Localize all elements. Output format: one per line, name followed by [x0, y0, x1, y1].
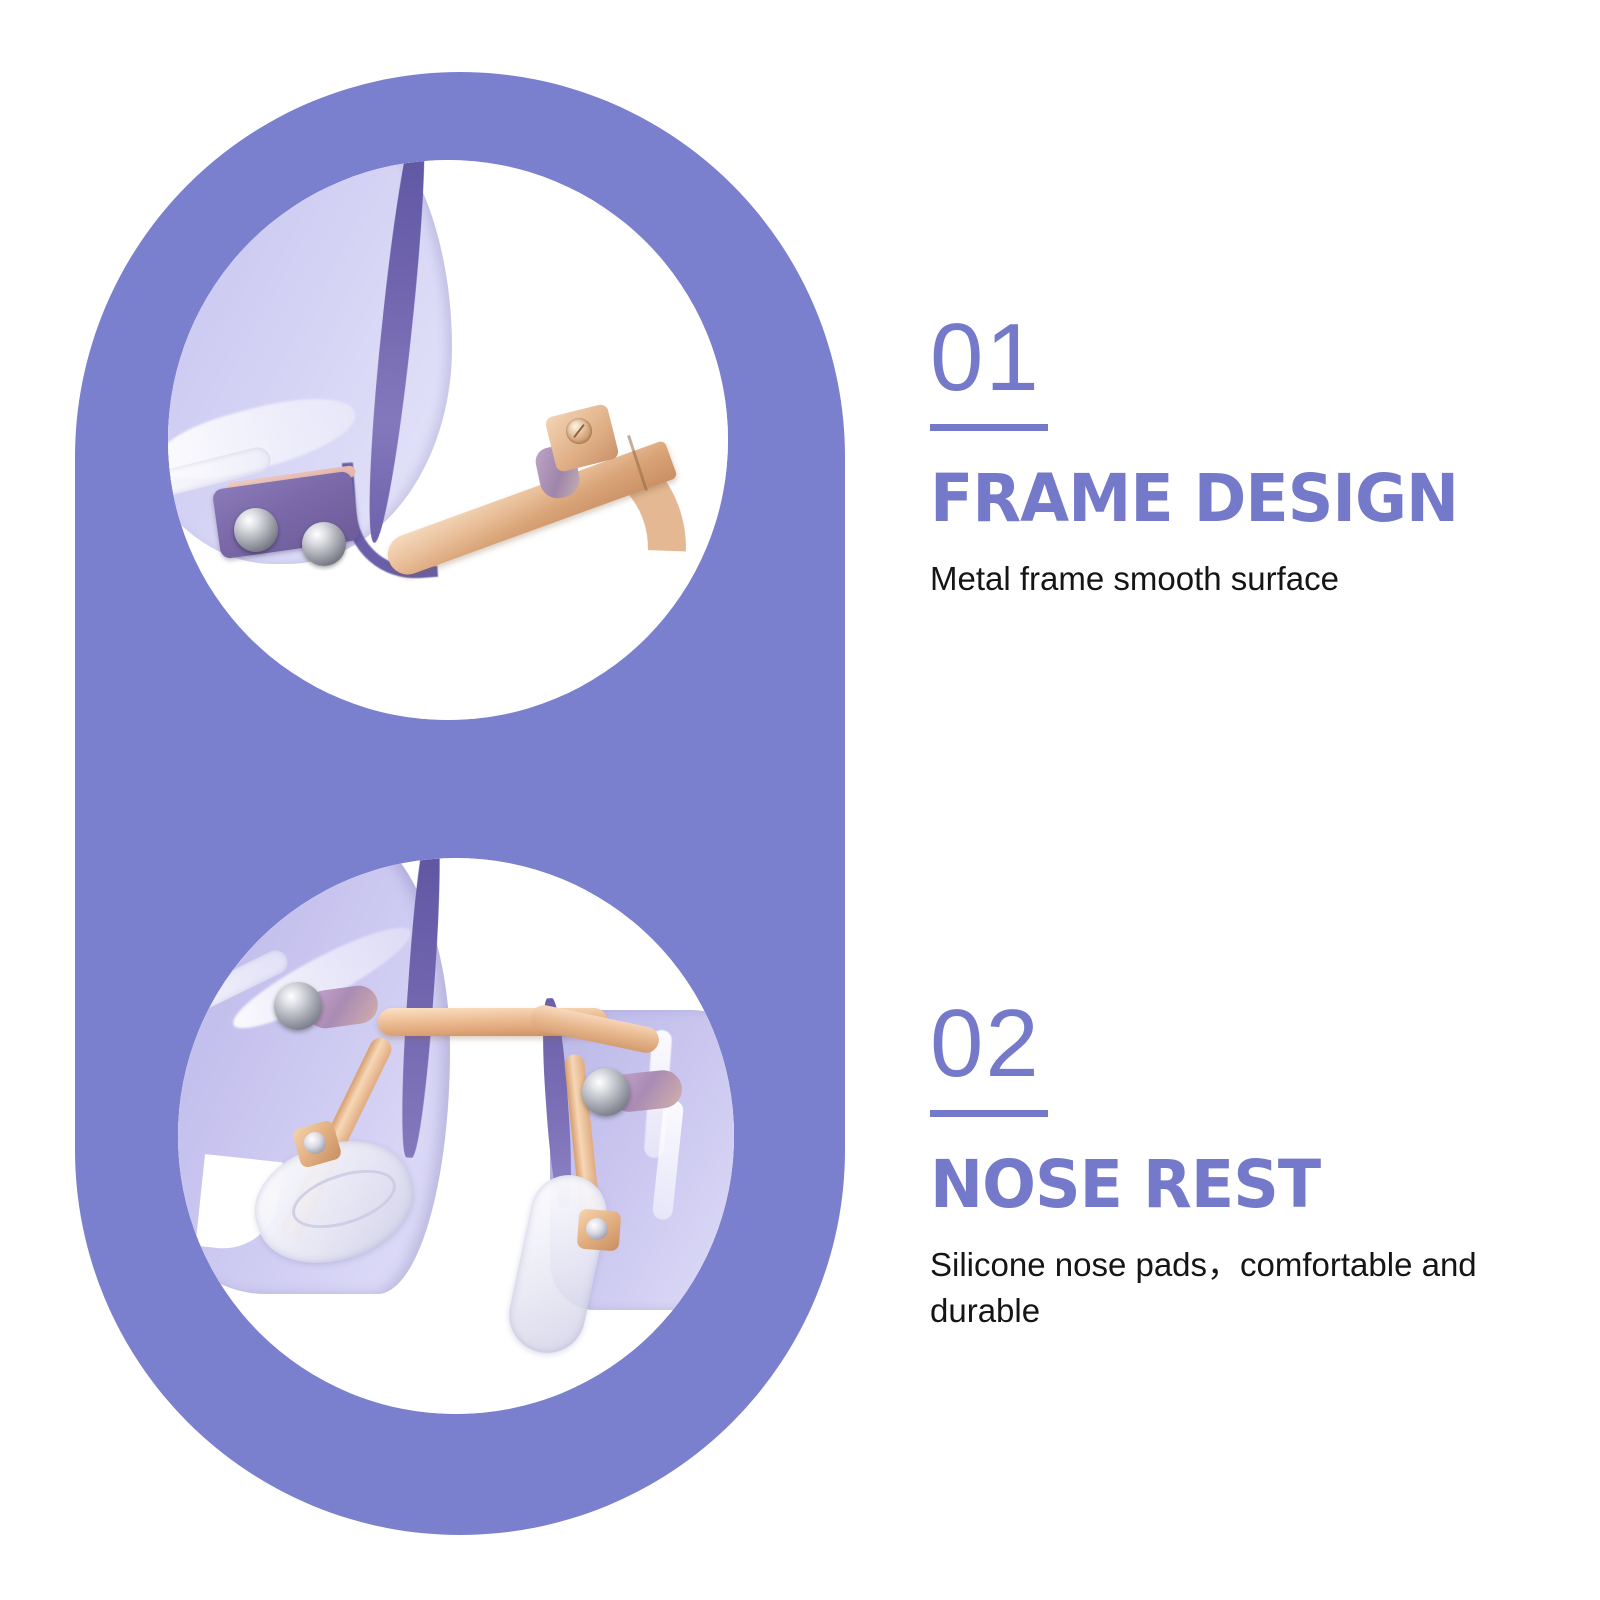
feature-number-01: 01 [930, 310, 1550, 406]
nose-pad-screw-right [586, 1218, 608, 1240]
feature-description-02: Silicone nose pads，comfortable and durab… [930, 1242, 1530, 1333]
feature-description-01: Metal frame smooth surface [930, 556, 1530, 602]
feature-block-01: 01 FRAME DESIGN Metal frame smooth surfa… [930, 310, 1550, 602]
feature-number-02: 02 [930, 996, 1550, 1092]
temple-arm-far [607, 175, 728, 350]
hinge-screw-bead-left [274, 982, 322, 1030]
infographic-stage: 01 FRAME DESIGN Metal frame smooth surfa… [0, 0, 1600, 1600]
feature-block-02: 02 NOSE REST Silicone nose pads，comforta… [930, 996, 1550, 1333]
feature-title-01: FRAME DESIGN [930, 465, 1525, 532]
feature-number-underline-01 [930, 424, 1048, 431]
metal-bead-rivet [302, 522, 346, 566]
feature-photo-frame-design [168, 160, 728, 720]
hinge-screw [566, 418, 592, 444]
hinge-screw-bead-right [582, 1068, 630, 1116]
feature-title-02: NOSE REST [930, 1151, 1525, 1218]
feature-photo-nose-rest [178, 858, 734, 1414]
metal-bead-rivet [234, 508, 278, 552]
nose-pad-screw-left [304, 1132, 326, 1154]
feature-number-underline-02 [930, 1110, 1048, 1117]
